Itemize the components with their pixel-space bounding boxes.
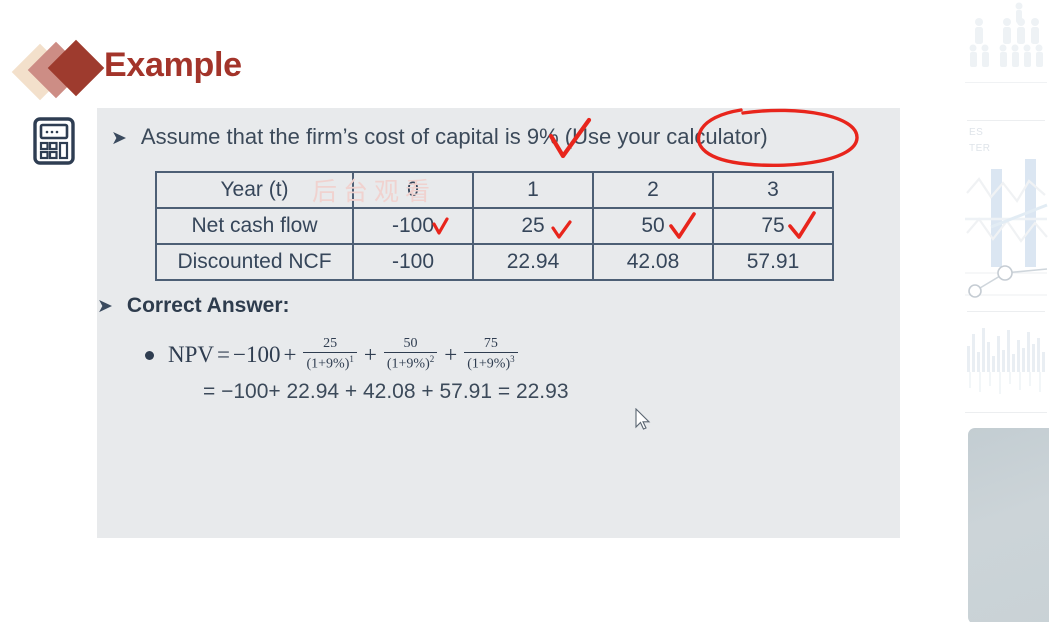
- histogram-ticks: [970, 372, 1040, 394]
- table-row: Discounted NCF -100 22.94 42.08 57.91: [156, 244, 833, 280]
- person-icon: [1000, 45, 1008, 68]
- npv-formula-block: NPV = −100 + 25 (1+9%)1 + 50 (1+9%)2 + 7…: [145, 336, 569, 404]
- mouse-pointer: [634, 408, 652, 432]
- node-circle: [998, 266, 1012, 280]
- formula-label: NPV: [168, 342, 214, 368]
- table-cell: -100: [353, 208, 473, 244]
- charts-thumb-label-bottom: TER: [969, 143, 991, 154]
- term-denominator: (1+9%)2: [384, 352, 437, 373]
- table-cell: 50: [593, 208, 713, 244]
- person-icon: [1012, 45, 1020, 68]
- slide-thumbnail-sidebar[interactable]: ES TER: [963, 0, 1049, 622]
- person-icon: [1003, 18, 1011, 44]
- table-cell: 3: [713, 172, 833, 208]
- formula-term-3: 75 (1+9%)3: [464, 336, 517, 373]
- dot-bullet-icon: [145, 351, 154, 360]
- person-icon: [1017, 18, 1025, 44]
- slide-canvas: Example ➤ Assume that the firm’s cost of…: [0, 0, 1049, 622]
- person-icon: [970, 45, 978, 68]
- histogram-thumb[interactable]: [963, 312, 1049, 422]
- table-cell: 57.91: [713, 244, 833, 280]
- formula-equals: =: [217, 342, 230, 368]
- formula-term-1: 25 (1+9%)1: [303, 336, 356, 373]
- arrow-bullet-icon: ➤: [97, 297, 113, 316]
- npv-formula-line-1: NPV = −100 + 25 (1+9%)1 + 50 (1+9%)2 + 7…: [145, 336, 569, 373]
- table-row: Year (t) 0 1 2 3: [156, 172, 833, 208]
- bullet-correct-answer: ➤ Correct Answer:: [97, 294, 290, 318]
- table-cell: 42.08: [593, 244, 713, 280]
- person-icon: [1024, 45, 1032, 68]
- term-denominator: (1+9%)1: [303, 352, 356, 373]
- table-cell: 22.94: [473, 244, 593, 280]
- charts-thumb[interactable]: ES TER: [963, 121, 1049, 311]
- table-row-header: Net cash flow: [156, 208, 353, 244]
- npv-formula-line-2: = −100+ 22.94 + 42.08 + 57.91 = 22.93: [203, 380, 569, 404]
- table-row: Net cash flow -100 25 50 75: [156, 208, 833, 244]
- bullet-assume-text: Assume that the firm’s cost of capital i…: [141, 124, 768, 150]
- node-circle: [969, 285, 981, 297]
- formula-base: −100: [233, 342, 280, 368]
- calculator-icon: [32, 117, 76, 165]
- table-cell: 75: [713, 208, 833, 244]
- page-title: Example: [104, 46, 242, 85]
- person-icon: [982, 45, 990, 68]
- formula-term-2: 50 (1+9%)2: [384, 336, 437, 373]
- histogram-bars: [967, 328, 1045, 372]
- npv-table: Year (t) 0 1 2 3 Net cash flow -100 25 5…: [155, 171, 834, 281]
- person-icon: [1036, 45, 1044, 68]
- arrow-bullet-icon: ➤: [111, 129, 127, 148]
- slide-panel-card[interactable]: [968, 428, 1049, 622]
- formula-plus: +: [364, 342, 377, 368]
- term-denominator: (1+9%)3: [464, 352, 517, 373]
- term-numerator: 75: [480, 336, 502, 352]
- people-pictogram-thumb[interactable]: [963, 0, 1049, 120]
- table-row-header: Discounted NCF: [156, 244, 353, 280]
- table-cell: 1: [473, 172, 593, 208]
- table-cell: -100: [353, 244, 473, 280]
- charts-thumb-label-top: ES: [969, 127, 983, 138]
- person-icon: [1031, 18, 1039, 44]
- table-row-header: Year (t): [156, 172, 353, 208]
- formula-plus: +: [283, 342, 296, 368]
- slide-content-panel: ➤ Assume that the firm’s cost of capital…: [97, 108, 900, 538]
- bullet-assume: ➤ Assume that the firm’s cost of capital…: [111, 124, 768, 150]
- slide-title-block: Example: [18, 42, 438, 100]
- table-cell: 0: [353, 172, 473, 208]
- person-icon: [975, 18, 983, 44]
- formula-plus: +: [444, 342, 457, 368]
- table-cell: 25: [473, 208, 593, 244]
- term-numerator: 25: [319, 336, 341, 352]
- term-numerator: 50: [400, 336, 422, 352]
- table-cell: 2: [593, 172, 713, 208]
- bullet-correct-answer-text: Correct Answer:: [127, 294, 290, 318]
